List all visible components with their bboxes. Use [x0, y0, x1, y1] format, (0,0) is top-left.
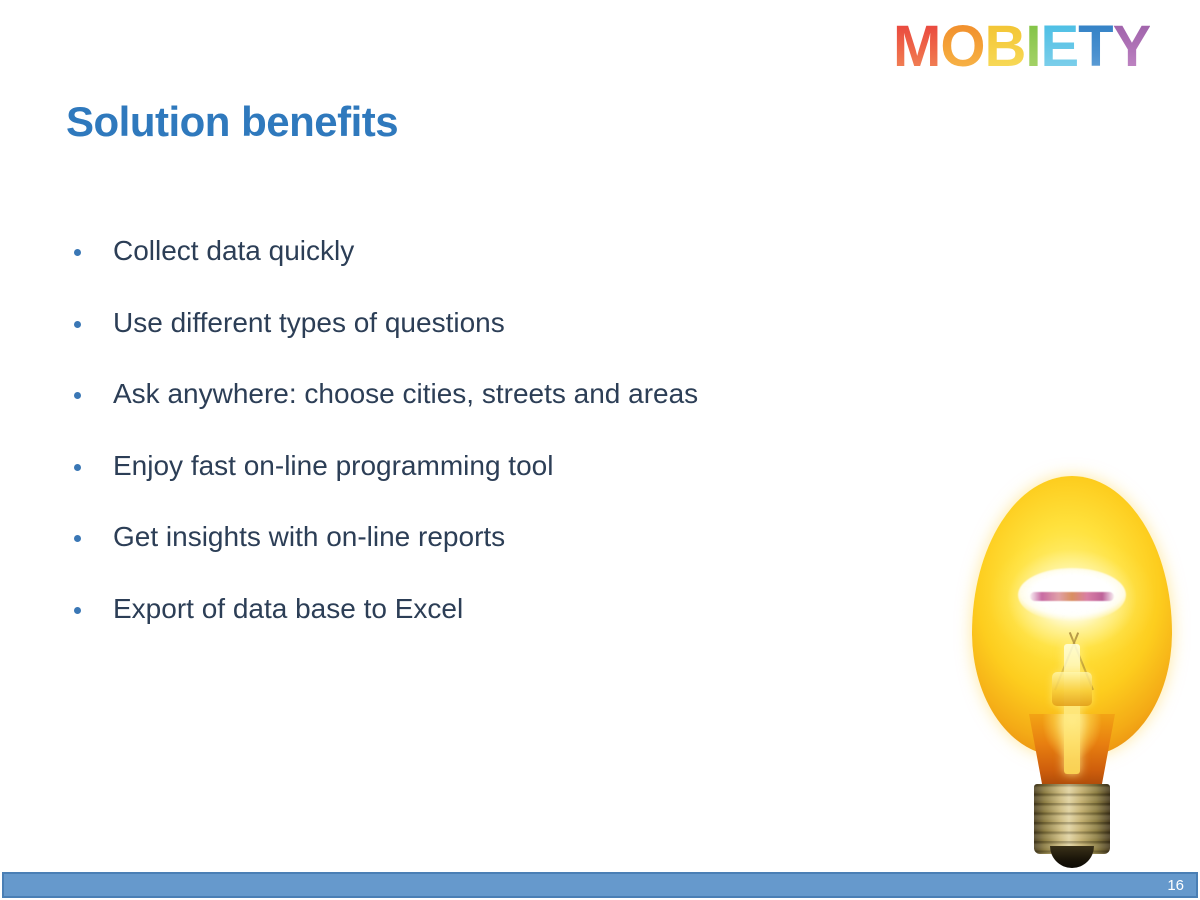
- filament-coil: [1030, 592, 1114, 601]
- list-item: Export of data base to Excel: [68, 594, 868, 666]
- list-item: Collect data quickly: [68, 236, 868, 308]
- page-title: Solution benefits: [66, 98, 398, 146]
- benefits-list: Collect data quickly Use different types…: [68, 236, 868, 665]
- footer-bar: 16: [2, 872, 1198, 898]
- bullet-icon: [74, 464, 81, 471]
- list-item-label: Get insights with on-line reports: [113, 522, 505, 551]
- slide: M O B I E T Y Solution benefits Collect …: [0, 0, 1200, 900]
- list-item-label: Export of data base to Excel: [113, 594, 463, 623]
- list-item: Ask anywhere: choose cities, streets and…: [68, 379, 868, 451]
- lightbulb-screw-base: [1034, 784, 1110, 854]
- list-item: Enjoy fast on-line programming tool: [68, 451, 868, 523]
- bullet-icon: [74, 535, 81, 542]
- list-item-label: Use different types of questions: [113, 308, 505, 337]
- logo-letter-i: I: [1025, 18, 1040, 76]
- logo-letter-o: O: [940, 18, 984, 76]
- mobiety-logo: M O B I E T Y: [893, 18, 1150, 76]
- filament-stem: [1064, 644, 1080, 774]
- lightbulb-image: [972, 476, 1172, 872]
- logo-letter-b: B: [984, 18, 1025, 76]
- list-item: Use different types of questions: [68, 308, 868, 380]
- logo-letter-m: M: [893, 18, 940, 76]
- list-item-label: Enjoy fast on-line programming tool: [113, 451, 553, 480]
- bullet-icon: [74, 321, 81, 328]
- lightbulb-contact-tip: [1050, 846, 1094, 868]
- bullet-icon: [74, 607, 81, 614]
- logo-letter-t: T: [1078, 18, 1112, 76]
- logo-letter-e: E: [1040, 18, 1078, 76]
- filament-mount: [1052, 672, 1092, 706]
- list-item-label: Ask anywhere: choose cities, streets and…: [113, 379, 698, 408]
- list-item-label: Collect data quickly: [113, 236, 354, 265]
- page-number: 16: [1167, 877, 1184, 895]
- bullet-icon: [74, 392, 81, 399]
- bullet-icon: [74, 249, 81, 256]
- list-item: Get insights with on-line reports: [68, 522, 868, 594]
- logo-letter-y: Y: [1113, 18, 1151, 76]
